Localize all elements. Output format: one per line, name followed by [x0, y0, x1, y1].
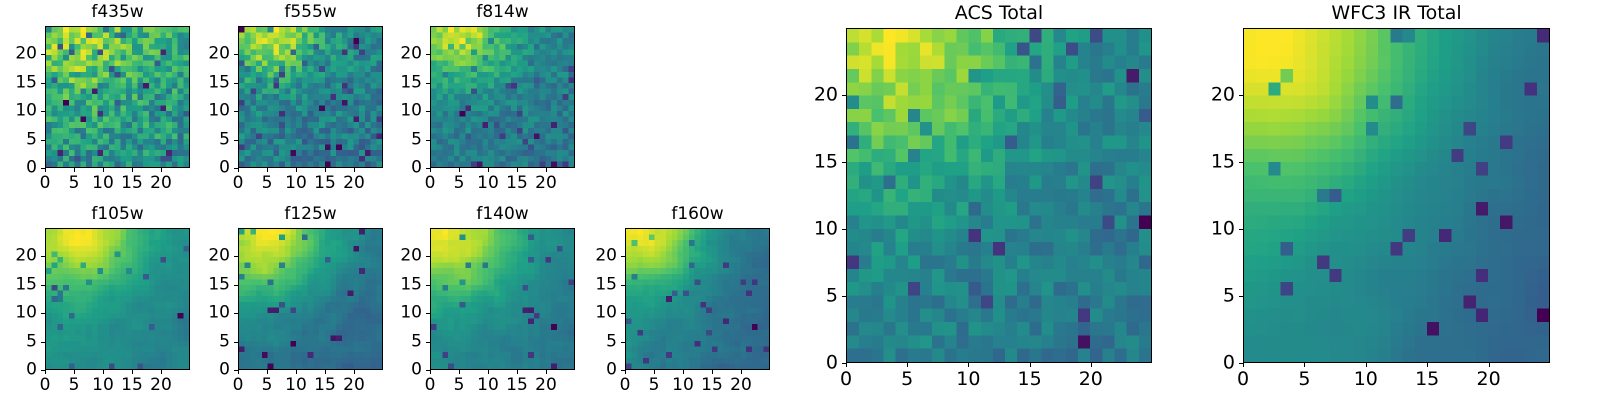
xtick-f140w-3 — [517, 370, 518, 374]
ytick-label-f160w-2: 10 — [579, 305, 617, 322]
ytick-f555w-4 — [234, 54, 238, 55]
ytick-label-f555w-2: 10 — [192, 103, 230, 120]
ytick-label-f125w-4: 20 — [192, 248, 230, 265]
xtick-wfc3-ir-total-2 — [1366, 363, 1367, 367]
ytick-label-f814w-4: 20 — [384, 46, 422, 63]
heatmap-f105w — [45, 228, 190, 370]
xtick-acs-total-1 — [907, 363, 908, 367]
ytick-wfc3-ir-total-3 — [1239, 162, 1243, 163]
ytick-wfc3-ir-total-1 — [1239, 296, 1243, 297]
xtick-acs-total-2 — [968, 363, 969, 367]
ytick-label-f140w-1: 5 — [384, 333, 422, 350]
ytick-label-acs-total-2: 10 — [800, 220, 838, 239]
xtick-label-wfc3-ir-total-0: 0 — [1237, 370, 1249, 389]
xtick-f435w-0 — [45, 168, 46, 172]
xtick-label-f435w-4: 20 — [150, 175, 172, 192]
ytick-f105w-3 — [41, 285, 45, 286]
xtick-label-f435w-3: 15 — [121, 175, 143, 192]
xtick-label-f814w-2: 10 — [477, 175, 499, 192]
xtick-label-f160w-2: 10 — [672, 377, 694, 394]
heatmap-canvas-f105w — [46, 229, 189, 369]
xtick-label-f555w-1: 5 — [262, 175, 273, 192]
ytick-f435w-0 — [41, 168, 45, 169]
ytick-f814w-4 — [426, 54, 430, 55]
ytick-label-f435w-0: 0 — [0, 160, 37, 177]
xtick-f160w-0 — [625, 370, 626, 374]
xtick-label-f814w-0: 0 — [425, 175, 436, 192]
ytick-f125w-2 — [234, 313, 238, 314]
heatmap-f435w — [45, 26, 190, 168]
ytick-label-wfc3-ir-total-2: 10 — [1197, 220, 1235, 239]
ytick-label-acs-total-1: 5 — [800, 287, 838, 306]
xtick-label-f125w-2: 10 — [285, 377, 307, 394]
ytick-label-acs-total-4: 20 — [800, 86, 838, 105]
xtick-f125w-4 — [354, 370, 355, 374]
xtick-f140w-2 — [488, 370, 489, 374]
ytick-wfc3-ir-total-2 — [1239, 229, 1243, 230]
ytick-label-f814w-2: 10 — [384, 103, 422, 120]
ytick-f105w-0 — [41, 370, 45, 371]
ytick-label-f435w-2: 10 — [0, 103, 37, 120]
xtick-label-f435w-2: 10 — [92, 175, 114, 192]
ytick-f140w-3 — [426, 285, 430, 286]
heatmap-wfc3-ir-total — [1243, 28, 1550, 363]
xtick-f555w-4 — [354, 168, 355, 172]
ytick-f814w-3 — [426, 83, 430, 84]
ytick-acs-total-2 — [842, 229, 846, 230]
ytick-acs-total-1 — [842, 296, 846, 297]
ytick-label-f105w-3: 15 — [0, 276, 37, 293]
xtick-f814w-0 — [430, 168, 431, 172]
panel-title-f140w: f140w — [430, 206, 575, 223]
ytick-f160w-0 — [621, 370, 625, 371]
ytick-f140w-2 — [426, 313, 430, 314]
ytick-f125w-0 — [234, 370, 238, 371]
xtick-f814w-3 — [517, 168, 518, 172]
ytick-label-f435w-4: 20 — [0, 46, 37, 63]
ytick-f814w-0 — [426, 168, 430, 169]
xtick-label-f105w-0: 0 — [40, 377, 51, 394]
xtick-f555w-3 — [325, 168, 326, 172]
ytick-f125w-4 — [234, 256, 238, 257]
xtick-label-f105w-2: 10 — [92, 377, 114, 394]
heatmap-canvas-f555w — [239, 27, 382, 167]
xtick-f435w-1 — [74, 168, 75, 172]
xtick-f435w-3 — [132, 168, 133, 172]
xtick-label-acs-total-2: 10 — [956, 370, 980, 389]
ytick-label-f105w-0: 0 — [0, 362, 37, 379]
xtick-f555w-2 — [296, 168, 297, 172]
xtick-f814w-1 — [459, 168, 460, 172]
xtick-label-f125w-0: 0 — [233, 377, 244, 394]
xtick-f160w-4 — [741, 370, 742, 374]
xtick-label-f435w-0: 0 — [40, 175, 51, 192]
panel-title-f435w: f435w — [45, 4, 190, 21]
heatmap-canvas-acs-total — [847, 29, 1151, 362]
ytick-f140w-1 — [426, 342, 430, 343]
xtick-f105w-0 — [45, 370, 46, 374]
xtick-f555w-0 — [238, 168, 239, 172]
xtick-f435w-4 — [161, 168, 162, 172]
ytick-f140w-4 — [426, 256, 430, 257]
xtick-f105w-3 — [132, 370, 133, 374]
xtick-label-f125w-4: 20 — [343, 377, 365, 394]
xtick-label-f125w-1: 5 — [262, 377, 273, 394]
xtick-acs-total-3 — [1030, 363, 1031, 367]
xtick-wfc3-ir-total-1 — [1304, 363, 1305, 367]
ytick-label-f160w-3: 15 — [579, 276, 617, 293]
panel-title-acs-total: ACS Total — [846, 4, 1152, 23]
ytick-label-f105w-1: 5 — [0, 333, 37, 350]
ytick-label-f140w-2: 10 — [384, 305, 422, 322]
ytick-f814w-2 — [426, 111, 430, 112]
xtick-wfc3-ir-total-0 — [1243, 363, 1244, 367]
xtick-label-f140w-3: 15 — [506, 377, 528, 394]
ytick-wfc3-ir-total-0 — [1239, 363, 1243, 364]
xtick-label-f435w-1: 5 — [69, 175, 80, 192]
xtick-wfc3-ir-total-3 — [1427, 363, 1428, 367]
xtick-label-f140w-2: 10 — [477, 377, 499, 394]
ytick-label-f125w-3: 15 — [192, 276, 230, 293]
xtick-label-f160w-1: 5 — [649, 377, 660, 394]
ytick-label-f555w-1: 5 — [192, 131, 230, 148]
xtick-f125w-3 — [325, 370, 326, 374]
heatmap-canvas-f125w — [239, 229, 382, 369]
xtick-label-f140w-1: 5 — [454, 377, 465, 394]
xtick-f125w-1 — [267, 370, 268, 374]
panel-title-f160w: f160w — [625, 206, 770, 223]
xtick-label-wfc3-ir-total-2: 10 — [1354, 370, 1378, 389]
xtick-acs-total-0 — [846, 363, 847, 367]
ytick-acs-total-0 — [842, 363, 846, 364]
ytick-label-f814w-0: 0 — [384, 160, 422, 177]
xtick-label-f125w-3: 15 — [314, 377, 336, 394]
ytick-f105w-1 — [41, 342, 45, 343]
ytick-label-f435w-3: 15 — [0, 74, 37, 91]
heatmap-canvas-wfc3-ir-total — [1244, 29, 1549, 362]
ytick-acs-total-4 — [842, 95, 846, 96]
xtick-acs-total-4 — [1091, 363, 1092, 367]
xtick-wfc3-ir-total-4 — [1489, 363, 1490, 367]
ytick-label-f160w-4: 20 — [579, 248, 617, 265]
xtick-label-f814w-1: 5 — [454, 175, 465, 192]
ytick-label-wfc3-ir-total-1: 5 — [1197, 287, 1235, 306]
xtick-label-f160w-0: 0 — [620, 377, 631, 394]
xtick-label-f555w-4: 20 — [343, 175, 365, 192]
xtick-f105w-1 — [74, 370, 75, 374]
figure-canvas: f435w0510152005101520f555w05101520051015… — [0, 0, 1600, 400]
panel-title-f814w: f814w — [430, 4, 575, 21]
ytick-label-f814w-3: 15 — [384, 74, 422, 91]
ytick-label-f125w-0: 0 — [192, 362, 230, 379]
xtick-f160w-3 — [712, 370, 713, 374]
ytick-label-f140w-3: 15 — [384, 276, 422, 293]
panel-title-f105w: f105w — [45, 206, 190, 223]
xtick-label-f814w-3: 15 — [506, 175, 528, 192]
heatmap-acs-total — [846, 28, 1152, 363]
ytick-label-wfc3-ir-total-3: 15 — [1197, 153, 1235, 172]
ytick-f105w-2 — [41, 313, 45, 314]
xtick-f814w-2 — [488, 168, 489, 172]
ytick-f435w-3 — [41, 83, 45, 84]
ytick-f160w-1 — [621, 342, 625, 343]
ytick-f125w-3 — [234, 285, 238, 286]
xtick-label-wfc3-ir-total-1: 5 — [1298, 370, 1310, 389]
xtick-f140w-4 — [546, 370, 547, 374]
xtick-label-acs-total-3: 15 — [1018, 370, 1042, 389]
heatmap-canvas-f814w — [431, 27, 574, 167]
xtick-f140w-1 — [459, 370, 460, 374]
xtick-f555w-1 — [267, 168, 268, 172]
xtick-f435w-2 — [103, 168, 104, 172]
heatmap-f125w — [238, 228, 383, 370]
ytick-f435w-1 — [41, 140, 45, 141]
xtick-label-wfc3-ir-total-3: 15 — [1415, 370, 1439, 389]
xtick-label-wfc3-ir-total-4: 20 — [1477, 370, 1501, 389]
ytick-label-f814w-1: 5 — [384, 131, 422, 148]
ytick-label-acs-total-3: 15 — [800, 153, 838, 172]
xtick-f105w-4 — [161, 370, 162, 374]
xtick-label-f140w-4: 20 — [535, 377, 557, 394]
ytick-label-acs-total-0: 0 — [800, 354, 838, 373]
ytick-label-f160w-0: 0 — [579, 362, 617, 379]
heatmap-canvas-f160w — [626, 229, 769, 369]
ytick-label-wfc3-ir-total-0: 0 — [1197, 354, 1235, 373]
xtick-label-f105w-1: 5 — [69, 377, 80, 394]
heatmap-f814w — [430, 26, 575, 168]
ytick-f435w-4 — [41, 54, 45, 55]
xtick-label-f555w-3: 15 — [314, 175, 336, 192]
ytick-label-f160w-1: 5 — [579, 333, 617, 350]
heatmap-f140w — [430, 228, 575, 370]
panel-title-wfc3-ir-total: WFC3 IR Total — [1243, 4, 1550, 23]
ytick-f140w-0 — [426, 370, 430, 371]
ytick-label-f140w-4: 20 — [384, 248, 422, 265]
xtick-f105w-2 — [103, 370, 104, 374]
ytick-f555w-1 — [234, 140, 238, 141]
xtick-label-f555w-0: 0 — [233, 175, 244, 192]
xtick-label-f814w-4: 20 — [535, 175, 557, 192]
ytick-f125w-1 — [234, 342, 238, 343]
ytick-label-f125w-2: 10 — [192, 305, 230, 322]
ytick-label-f105w-2: 10 — [0, 305, 37, 322]
panel-title-f555w: f555w — [238, 4, 383, 21]
ytick-f435w-2 — [41, 111, 45, 112]
panel-title-f125w: f125w — [238, 206, 383, 223]
xtick-label-acs-total-0: 0 — [840, 370, 852, 389]
ytick-label-f555w-4: 20 — [192, 46, 230, 63]
xtick-label-acs-total-4: 20 — [1079, 370, 1103, 389]
ytick-label-f555w-3: 15 — [192, 74, 230, 91]
ytick-f555w-0 — [234, 168, 238, 169]
xtick-label-f105w-4: 20 — [150, 377, 172, 394]
ytick-f555w-2 — [234, 111, 238, 112]
xtick-label-f555w-2: 10 — [285, 175, 307, 192]
xtick-f125w-0 — [238, 370, 239, 374]
ytick-f160w-4 — [621, 256, 625, 257]
ytick-f105w-4 — [41, 256, 45, 257]
ytick-f160w-3 — [621, 285, 625, 286]
xtick-label-acs-total-1: 5 — [901, 370, 913, 389]
ytick-label-f140w-0: 0 — [384, 362, 422, 379]
xtick-f160w-2 — [683, 370, 684, 374]
xtick-label-f160w-3: 15 — [701, 377, 723, 394]
ytick-f160w-2 — [621, 313, 625, 314]
xtick-f140w-0 — [430, 370, 431, 374]
heatmap-f160w — [625, 228, 770, 370]
xtick-label-f140w-0: 0 — [425, 377, 436, 394]
ytick-wfc3-ir-total-4 — [1239, 95, 1243, 96]
heatmap-canvas-f140w — [431, 229, 574, 369]
xtick-f814w-4 — [546, 168, 547, 172]
ytick-label-f435w-1: 5 — [0, 131, 37, 148]
heatmap-canvas-f435w — [46, 27, 189, 167]
ytick-label-f125w-1: 5 — [192, 333, 230, 350]
heatmap-f555w — [238, 26, 383, 168]
ytick-label-f105w-4: 20 — [0, 248, 37, 265]
xtick-f160w-1 — [654, 370, 655, 374]
ytick-f555w-3 — [234, 83, 238, 84]
ytick-acs-total-3 — [842, 162, 846, 163]
ytick-label-f555w-0: 0 — [192, 160, 230, 177]
ytick-f814w-1 — [426, 140, 430, 141]
ytick-label-wfc3-ir-total-4: 20 — [1197, 86, 1235, 105]
xtick-label-f160w-4: 20 — [730, 377, 752, 394]
xtick-f125w-2 — [296, 370, 297, 374]
xtick-label-f105w-3: 15 — [121, 377, 143, 394]
